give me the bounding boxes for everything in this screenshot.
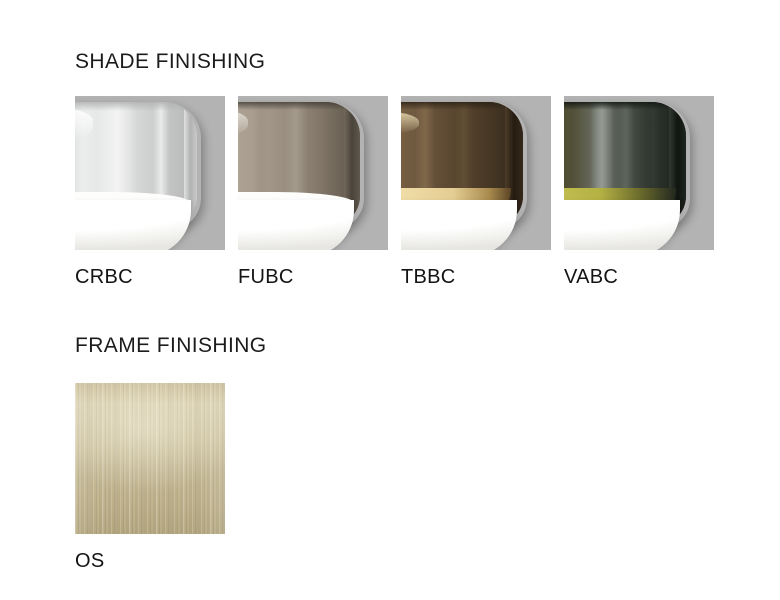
frame-finishing-heading: FRAME FINISHING — [75, 334, 267, 358]
swatch-option-fubc[interactable]: FUBC — [238, 96, 388, 287]
shade-finishing-heading: SHADE FINISHING — [75, 50, 265, 74]
swatch-image-vabc[interactable] — [564, 96, 714, 250]
swatch-label-fubc: FUBC — [238, 267, 388, 287]
swatch-option-os[interactable]: OS — [75, 383, 225, 571]
swatch-option-crbc[interactable]: CRBC — [75, 96, 225, 287]
swatch-label-crbc: CRBC — [75, 267, 225, 287]
swatch-image-os[interactable] — [75, 383, 225, 534]
finishing-options-page: SHADE FINISHING CRBC — [0, 0, 780, 600]
lamp-diffuser-icon — [564, 200, 680, 250]
swatch-label-os: OS — [75, 551, 225, 571]
swatch-option-vabc[interactable]: VABC — [564, 96, 714, 287]
frame-swatch-row: OS — [75, 383, 225, 571]
lamp-diffuser-icon — [75, 200, 191, 250]
shade-swatch-row: CRBC FUBC — [75, 96, 714, 287]
lamp-diffuser-icon — [401, 200, 517, 250]
swatch-label-tbbc: TBBC — [401, 267, 551, 287]
swatch-image-crbc[interactable] — [75, 96, 225, 250]
swatch-option-tbbc[interactable]: TBBC — [401, 96, 551, 287]
swatch-image-tbbc[interactable] — [401, 96, 551, 250]
swatch-image-fubc[interactable] — [238, 96, 388, 250]
lamp-diffuser-icon — [238, 200, 354, 250]
swatch-label-vabc: VABC — [564, 267, 714, 287]
brass-sheen-highlight — [75, 383, 225, 534]
